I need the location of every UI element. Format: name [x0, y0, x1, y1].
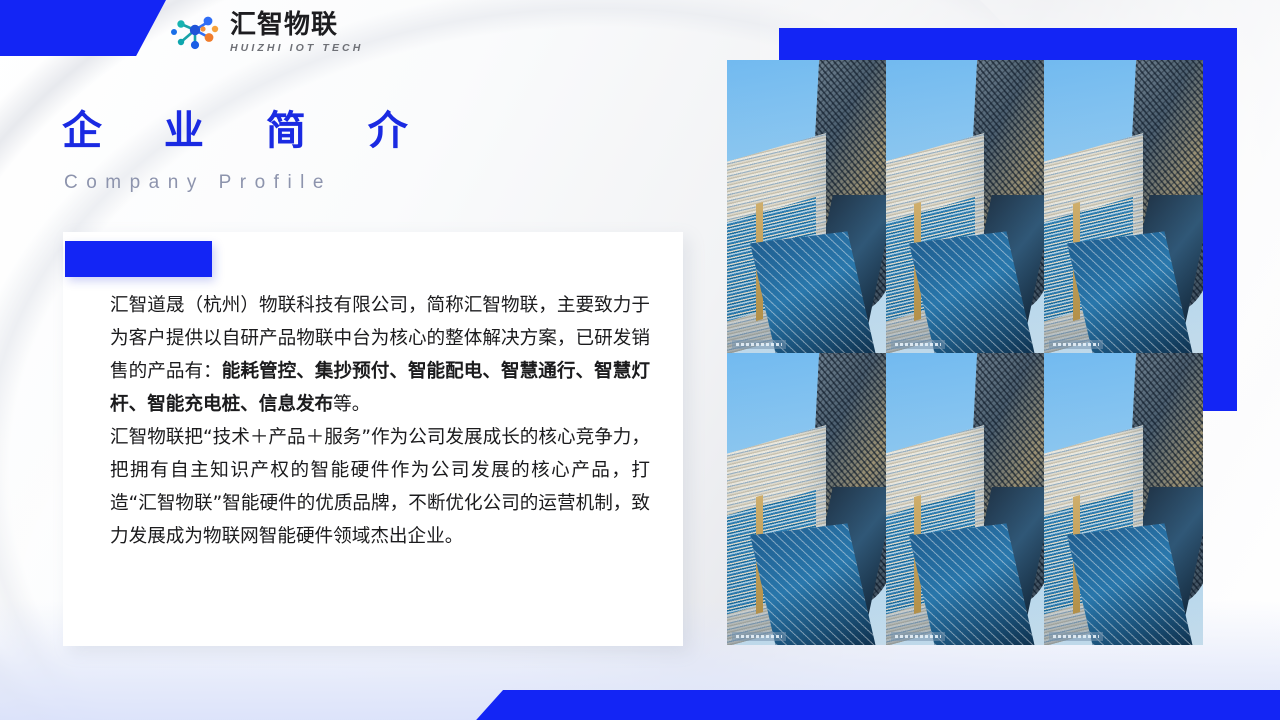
skyscraper-photo [886, 60, 1045, 353]
skyscraper-photo [727, 353, 886, 646]
photo-watermark [891, 340, 945, 349]
page-title: 企 业 简 介 [62, 98, 432, 156]
slide-company-profile: 汇智物联 HUIZHI IOT TECH 企 业 简 介 Company Pro… [0, 0, 1280, 720]
company-logo: 汇智物联 HUIZHI IOT TECH [170, 10, 363, 56]
p1-seg-3: 等。 [333, 394, 370, 415]
photo-watermark [732, 632, 786, 641]
photo-watermark [1049, 340, 1103, 349]
logo-name-cn: 汇智物联 [230, 12, 363, 38]
p2-seg-1: 汇智物联把“技术＋产品＋服务”作为公司发展成长的核心竞争力，把拥有自主知识产权的… [110, 427, 650, 547]
skyscraper-photo [1044, 60, 1203, 353]
molecule-network-icon [170, 10, 222, 56]
skyscraper-photo [886, 353, 1045, 646]
paragraph-1: 汇智道晟（杭州）物联科技有限公司，简称汇智物联，主要致力于为客户提供以自研产品物… [110, 289, 650, 421]
photo-watermark [732, 340, 786, 349]
list-item[interactable] [886, 353, 1045, 646]
list-item[interactable] [727, 353, 886, 646]
list-item[interactable] [727, 60, 886, 353]
page-subtitle: Company Profile [64, 172, 332, 194]
photo-watermark [1049, 632, 1103, 641]
skyscraper-photo [1044, 353, 1203, 646]
skyscraper-photo [727, 60, 886, 353]
paragraph-2: 汇智物联把“技术＋产品＋服务”作为公司发展成长的核心竞争力，把拥有自主知识产权的… [110, 421, 650, 553]
photo-watermark [891, 632, 945, 641]
profile-text-body: 汇智道晟（杭州）物联科技有限公司，简称汇智物联，主要致力于为客户提供以自研产品物… [110, 289, 650, 553]
photo-gallery-grid [727, 60, 1203, 645]
list-item[interactable] [1044, 353, 1203, 646]
card-accent-tab [65, 241, 212, 277]
logo-name-en: HUIZHI IOT TECH [230, 43, 363, 54]
list-item[interactable] [1044, 60, 1203, 353]
list-item[interactable] [886, 60, 1045, 353]
logo-wordmark: 汇智物联 HUIZHI IOT TECH [230, 12, 363, 54]
